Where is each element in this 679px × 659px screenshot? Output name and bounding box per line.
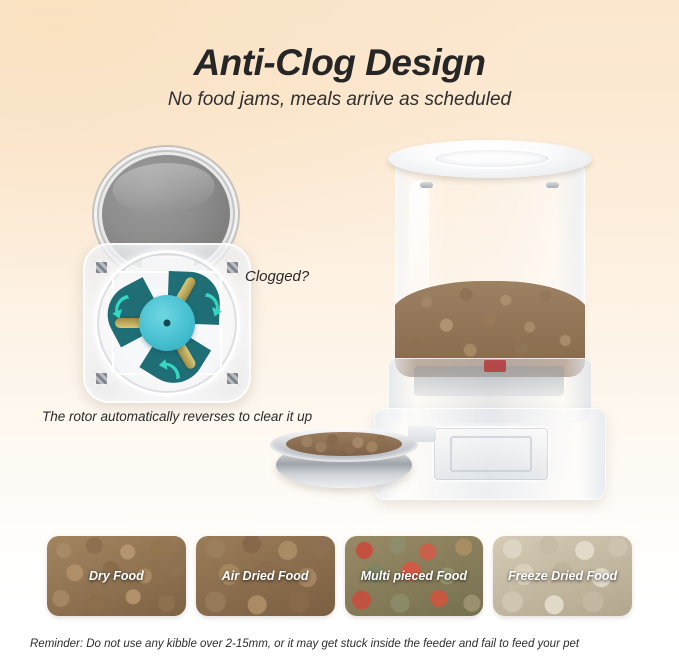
food-type-card: Multi pieced Food xyxy=(345,536,484,616)
food-type-label: Freeze Dried Food xyxy=(493,569,632,583)
rotor-hub xyxy=(139,295,195,351)
food-type-card: Air Dried Food xyxy=(196,536,335,616)
bowl-kibble xyxy=(286,432,402,456)
reminder-text: Reminder: Do not use any kibble over 2-1… xyxy=(30,638,655,650)
base-chamber xyxy=(432,426,550,482)
promo-image: Anti-Clog Design No food jams, meals arr… xyxy=(0,0,679,659)
screw-icon xyxy=(225,260,240,275)
page-subtitle: No food jams, meals arrive as scheduled xyxy=(0,89,679,111)
screw-icon xyxy=(225,371,240,386)
food-hopper xyxy=(395,162,585,377)
rotor-housing xyxy=(83,243,251,403)
reverse-arrow-icon xyxy=(153,357,184,388)
feeder-product-image xyxy=(270,140,610,500)
rotor-wheel xyxy=(115,271,219,375)
hopper-lid xyxy=(388,140,592,178)
food-type-label: Air Dried Food xyxy=(196,569,335,583)
food-type-card: Freeze Dried Food xyxy=(493,536,632,616)
lid-clip-icon xyxy=(546,182,559,188)
stainless-bowl xyxy=(270,428,418,490)
rotor-diagram xyxy=(80,155,255,400)
food-type-label: Multi pieced Food xyxy=(345,569,484,583)
food-type-card: Dry Food xyxy=(47,536,186,616)
food-type-cards: Dry Food Air Dried Food Multi pieced Foo… xyxy=(47,536,632,616)
screw-icon xyxy=(94,371,109,386)
screw-icon xyxy=(94,260,109,275)
rotor-caption: The rotor automatically reverses to clea… xyxy=(42,409,342,424)
clogged-label: Clogged? xyxy=(245,268,309,285)
page-title: Anti-Clog Design xyxy=(0,42,679,84)
lid-clip-icon xyxy=(420,182,433,188)
food-type-label: Dry Food xyxy=(47,569,186,583)
